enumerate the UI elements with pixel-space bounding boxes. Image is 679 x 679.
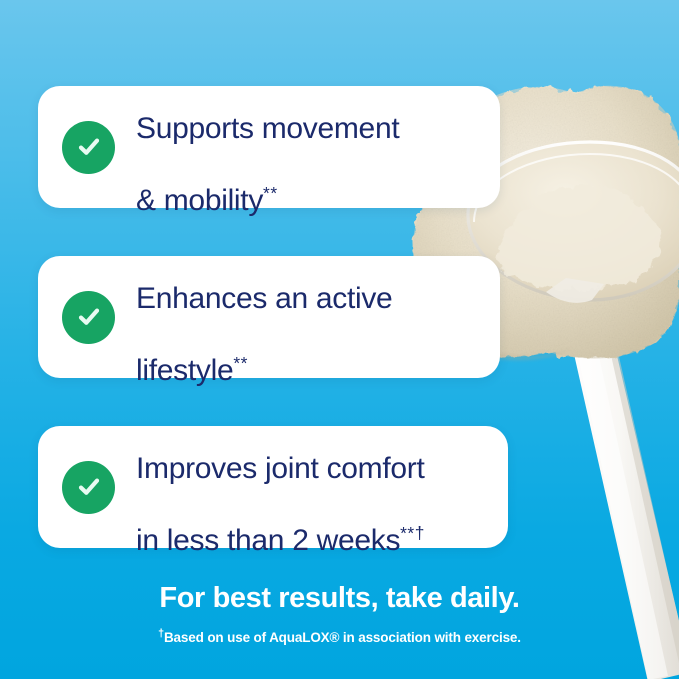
product-benefits-infographic: Supports movement & mobility** Enhances … [0, 0, 679, 679]
check-circle-icon [62, 121, 115, 174]
benefit-3-line-2: in less than 2 weeks [136, 524, 400, 557]
benefit-card-1-text: Supports movement & mobility** [136, 76, 399, 219]
benefit-1-line-2: & mobility [136, 184, 263, 217]
check-circle-icon [62, 291, 115, 344]
benefit-1-line-1: Supports movement [136, 112, 399, 145]
scoop-handle [560, 283, 679, 679]
footnote: †Based on use of AquaLOX® in association… [0, 630, 679, 645]
benefit-2-line-1: Enhances an active [136, 282, 392, 315]
benefit-card-1: Supports movement & mobility** [38, 86, 500, 208]
benefit-card-3: Improves joint comfort in less than 2 we… [38, 426, 508, 548]
benefit-card-2-text: Enhances an active lifestyle** [136, 246, 392, 389]
footnote-text: Based on use of AquaLOX® in association … [164, 630, 521, 645]
check-circle-icon [62, 461, 115, 514]
benefit-1-footnote-mark: ** [263, 183, 278, 203]
benefit-card-2: Enhances an active lifestyle** [38, 256, 500, 378]
benefit-2-footnote-mark: ** [233, 353, 248, 373]
benefit-card-3-text: Improves joint comfort in less than 2 we… [136, 416, 425, 559]
benefit-3-footnote-mark: **† [400, 523, 425, 543]
benefit-3-line-1: Improves joint comfort [136, 452, 425, 485]
tagline: For best results, take daily. [0, 582, 679, 615]
benefit-2-line-2: lifestyle [136, 354, 233, 387]
